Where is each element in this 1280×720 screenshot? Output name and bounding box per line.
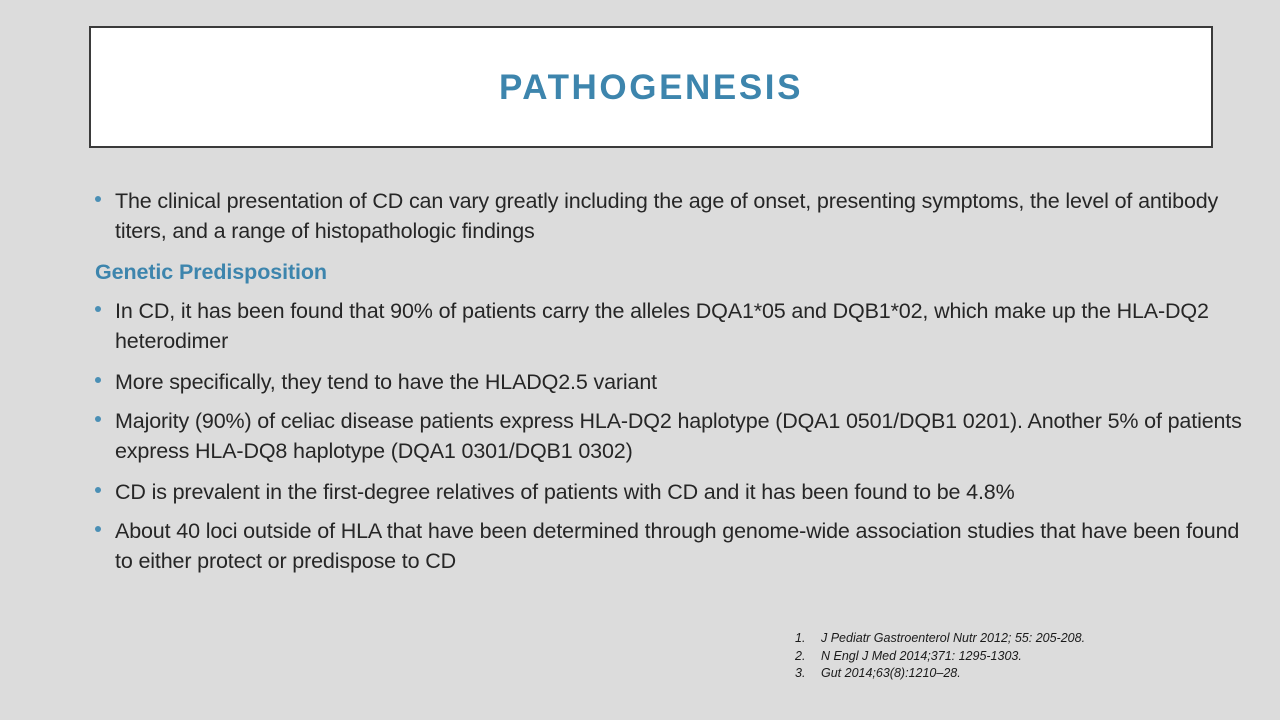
reference-item: 1. J Pediatr Gastroenterol Nutr 2012; 55… (795, 630, 1215, 648)
bullet-text: In CD, it has been found that 90% of pat… (115, 296, 1247, 356)
reference-citation: N Engl J Med 2014;371: 1295-1303. (821, 648, 1215, 666)
bullet-dot-icon (95, 186, 115, 202)
reference-citation: J Pediatr Gastroenterol Nutr 2012; 55: 2… (821, 630, 1215, 648)
list-item: Majority (90%) of celiac disease patient… (95, 406, 1247, 466)
bullet-dot-icon (95, 516, 115, 532)
bullet-dot-icon (95, 296, 115, 312)
reference-number: 1. (795, 630, 821, 648)
slide-canvas: PATHOGENESIS The clinical presentation o… (0, 0, 1280, 720)
reference-citation: Gut 2014;63(8):1210–28. (821, 665, 1215, 683)
list-item: CD is prevalent in the first-degree rela… (95, 477, 1247, 507)
bullet-dot-icon (95, 406, 115, 422)
list-item: In CD, it has been found that 90% of pat… (95, 296, 1247, 356)
bullet-text: More specifically, they tend to have the… (115, 367, 1247, 397)
reference-list: 1. J Pediatr Gastroenterol Nutr 2012; 55… (795, 630, 1215, 683)
list-item: More specifically, they tend to have the… (95, 367, 1247, 397)
bullet-text: About 40 loci outside of HLA that have b… (115, 516, 1247, 576)
title-box: PATHOGENESIS (89, 26, 1213, 148)
section-heading-genetic-predisposition: Genetic Predisposition (95, 257, 1247, 287)
slide-body: The clinical presentation of CD can vary… (95, 186, 1247, 587)
bullet-text: Majority (90%) of celiac disease patient… (115, 406, 1247, 466)
list-item: The clinical presentation of CD can vary… (95, 186, 1247, 246)
reference-item: 3. Gut 2014;63(8):1210–28. (795, 665, 1215, 683)
page-title: PATHOGENESIS (499, 70, 803, 105)
reference-number: 3. (795, 665, 821, 683)
bullet-text: The clinical presentation of CD can vary… (115, 186, 1247, 246)
bullet-dot-icon (95, 367, 115, 383)
list-item: About 40 loci outside of HLA that have b… (95, 516, 1247, 576)
reference-item: 2. N Engl J Med 2014;371: 1295-1303. (795, 648, 1215, 666)
bullet-dot-icon (95, 477, 115, 493)
bullet-text: CD is prevalent in the first-degree rela… (115, 477, 1247, 507)
reference-number: 2. (795, 648, 821, 666)
